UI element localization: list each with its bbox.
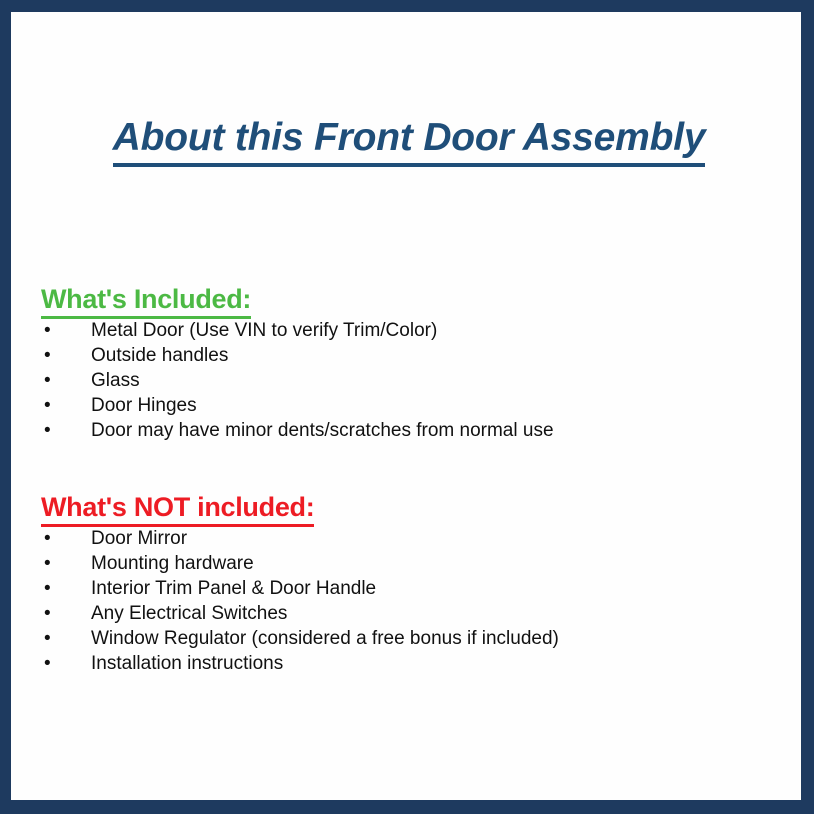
section-heading-not-included: What's NOT included: — [41, 492, 314, 527]
section-heading-included: What's Included: — [41, 284, 251, 319]
list-item-label: Window Regulator (considered a free bonu… — [91, 628, 559, 649]
bullet-icon: • — [44, 526, 52, 551]
list-item: • Door Mirror — [11, 526, 801, 551]
bullet-icon: • — [44, 576, 52, 601]
list-item-label: Mounting hardware — [91, 553, 254, 574]
list-item-label: Door Hinges — [91, 395, 197, 416]
bullet-icon: • — [44, 651, 52, 676]
bullet-icon: • — [44, 368, 52, 393]
list-item: • Installation instructions — [11, 651, 801, 676]
list-item: • Any Electrical Switches — [11, 601, 801, 626]
list-item: • Outside handles — [11, 343, 801, 368]
list-item: • Interior Trim Panel & Door Handle — [11, 576, 801, 601]
list-item: • Door may have minor dents/scratches fr… — [11, 418, 801, 443]
bullet-icon: • — [44, 601, 52, 626]
list-item-label: Metal Door (Use VIN to verify Trim/Color… — [91, 320, 437, 341]
bullet-icon: • — [44, 551, 52, 576]
bullet-icon: • — [44, 393, 52, 418]
bullet-icon: • — [44, 418, 52, 443]
not-included-list: • Door Mirror • Mounting hardware • Inte… — [11, 526, 801, 676]
page-title: About this Front Door Assembly — [69, 116, 749, 167]
list-item-label: Interior Trim Panel & Door Handle — [91, 578, 376, 599]
list-item-label: Door Mirror — [91, 528, 187, 549]
bullet-icon: • — [44, 343, 52, 368]
list-item-label: Outside handles — [91, 345, 228, 366]
list-item: • Door Hinges — [11, 393, 801, 418]
list-item-label: Any Electrical Switches — [91, 603, 287, 624]
bullet-icon: • — [44, 626, 52, 651]
list-item: • Metal Door (Use VIN to verify Trim/Col… — [11, 318, 801, 343]
list-item: • Mounting hardware — [11, 551, 801, 576]
list-item: • Window Regulator (considered a free bo… — [11, 626, 801, 651]
list-item: • Glass — [11, 368, 801, 393]
included-list: • Metal Door (Use VIN to verify Trim/Col… — [11, 318, 801, 443]
list-item-label: Glass — [91, 370, 140, 391]
list-item-label: Door may have minor dents/scratches from… — [91, 420, 554, 441]
list-item-label: Installation instructions — [91, 653, 283, 674]
section-heading-not-included-text: What's NOT included: — [41, 492, 314, 527]
bullet-icon: • — [44, 318, 52, 343]
section-heading-included-text: What's Included: — [41, 284, 251, 319]
card-canvas: About this Front Door Assembly What's In… — [11, 12, 801, 800]
info-card: About this Front Door Assembly What's In… — [0, 0, 814, 814]
page-title-text: About this Front Door Assembly — [113, 116, 706, 167]
